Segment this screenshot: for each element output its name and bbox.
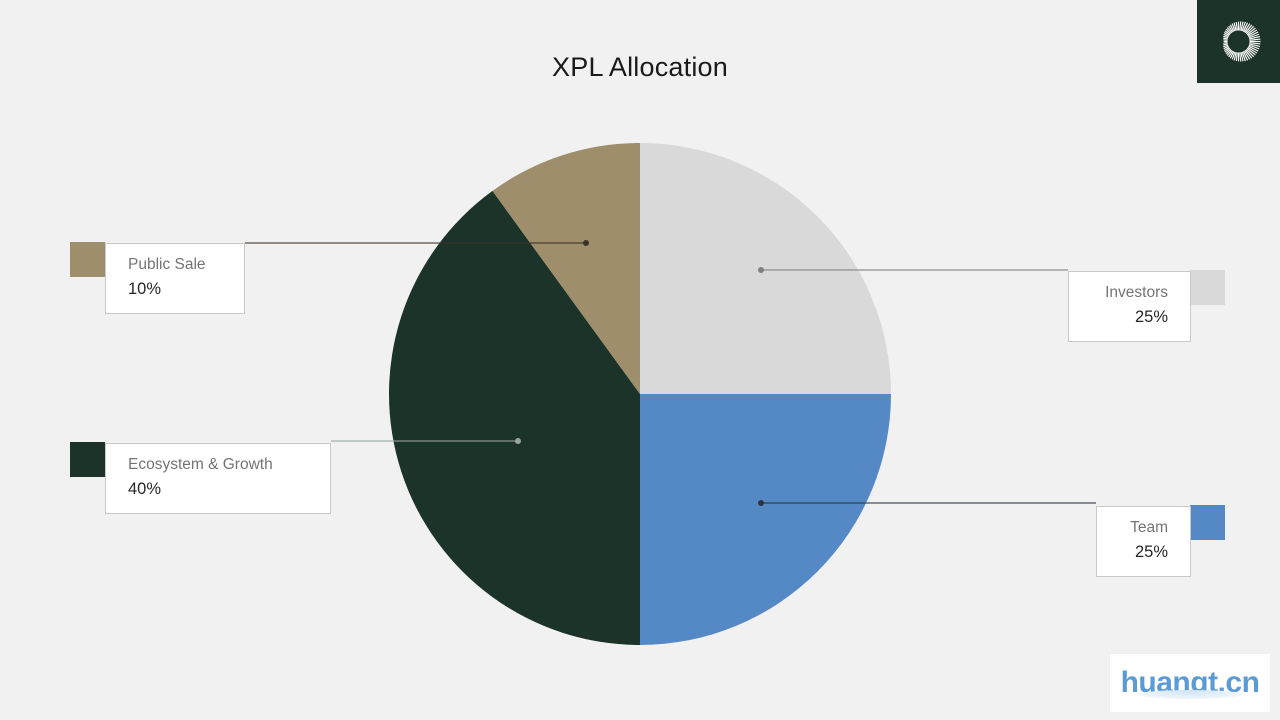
- legend-swatch-team: [1190, 505, 1225, 540]
- leader-dot: [515, 438, 521, 444]
- callout-label: Investors: [1105, 284, 1168, 303]
- callout-label: Team: [1130, 519, 1168, 538]
- pie-chart: [0, 0, 1280, 720]
- leader-dot: [583, 240, 589, 246]
- callout-label: Ecosystem & Growth: [128, 456, 273, 475]
- legend-swatch-public-sale: [70, 242, 105, 277]
- callout-investors[interactable]: Investors 25%: [1068, 271, 1191, 342]
- callout-value: 25%: [1135, 543, 1168, 563]
- leader-dot: [758, 267, 764, 273]
- callout-public-sale[interactable]: Public Sale 10%: [105, 243, 245, 314]
- pie-slice-group: [389, 143, 891, 645]
- legend-swatch-ecosystem: [70, 442, 105, 477]
- callout-value: 25%: [1135, 308, 1168, 328]
- slide-canvas: XPL Allocation Public Sale 10% Ecosystem…: [0, 0, 1280, 720]
- pie-slice-investors[interactable]: [640, 143, 891, 394]
- leader-dot: [758, 500, 764, 506]
- callout-label: Public Sale: [128, 256, 206, 275]
- callout-value: 10%: [128, 280, 161, 300]
- callout-team[interactable]: Team 25%: [1096, 506, 1191, 577]
- callout-ecosystem-growth[interactable]: Ecosystem & Growth 40%: [105, 443, 331, 514]
- watermark: huangt.cn: [1110, 654, 1270, 712]
- pie-slice-team[interactable]: [640, 394, 891, 645]
- watermark-swoosh: [1138, 690, 1243, 699]
- legend-swatch-investors: [1190, 270, 1225, 305]
- callout-value: 40%: [128, 480, 161, 500]
